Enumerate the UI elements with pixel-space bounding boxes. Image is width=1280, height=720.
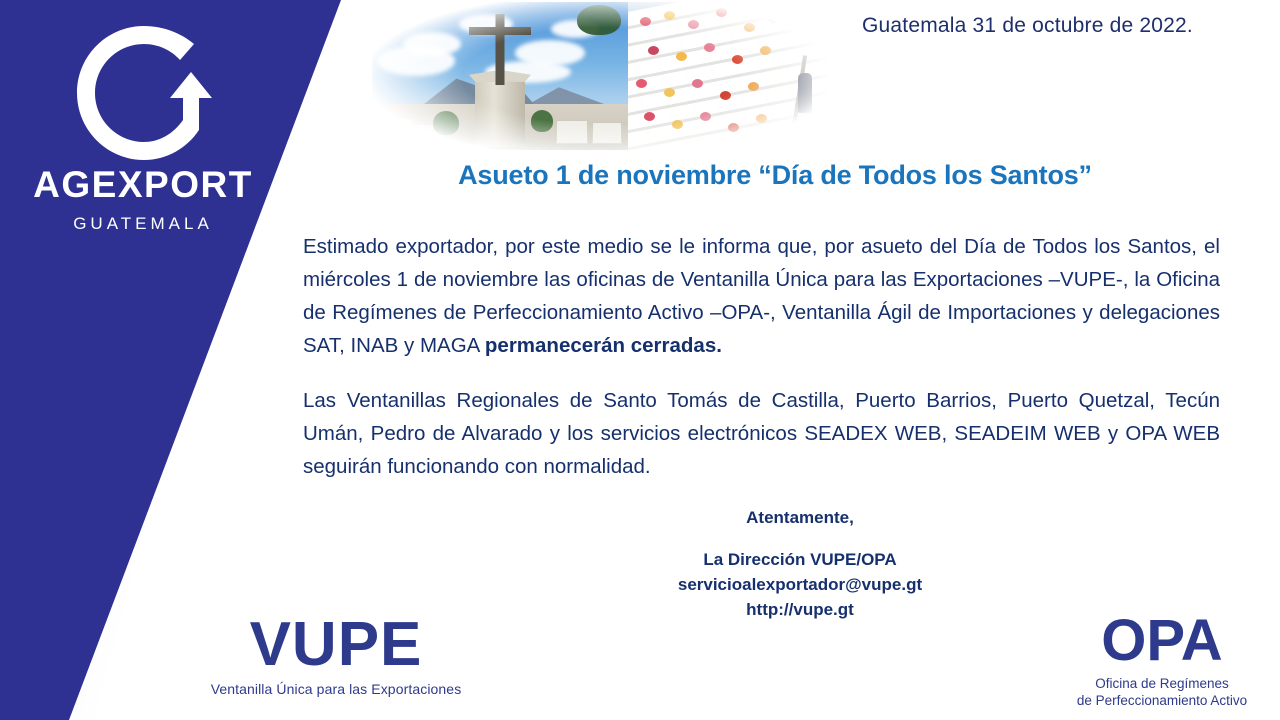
agexport-logo: AGEXPORT GUATEMALA bbox=[18, 20, 268, 232]
photo-banner bbox=[372, 2, 828, 150]
flower bbox=[692, 79, 703, 88]
signature-spacer bbox=[480, 530, 1120, 547]
tree bbox=[433, 111, 459, 135]
flower bbox=[644, 112, 655, 121]
flower bbox=[636, 79, 647, 88]
signature-email[interactable]: servicioalexportador@vupe.gt bbox=[480, 572, 1120, 597]
paragraph-1-text: Estimado exportador, por este medio se l… bbox=[303, 235, 1220, 357]
vupe-tagline: Ventanilla Única para las Exportaciones bbox=[205, 681, 467, 697]
person-silhouette bbox=[798, 73, 812, 113]
flower bbox=[688, 20, 699, 29]
flower bbox=[640, 17, 651, 26]
cemetery-niche-flowers-photo bbox=[628, 2, 828, 150]
flower bbox=[700, 112, 711, 121]
cross-pedestal bbox=[475, 75, 525, 147]
flower bbox=[716, 8, 727, 17]
cloud bbox=[403, 32, 461, 56]
paragraph-2: Las Ventanillas Regionales de Santo Tomá… bbox=[303, 384, 1220, 483]
vupe-logo: VUPE Ventanilla Única para las Exportaci… bbox=[205, 614, 467, 697]
date-line: Guatemala 31 de octubre de 2022. bbox=[862, 14, 1193, 38]
vupe-wordmark: VUPE bbox=[205, 614, 467, 676]
signature-block: Atentamente, La Dirección VUPE/OPA servi… bbox=[480, 505, 1120, 622]
page-title: Asueto 1 de noviembre “Día de Todos los … bbox=[300, 160, 1250, 191]
cemetery-cross-photo bbox=[372, 2, 628, 150]
paragraph-1: Estimado exportador, por este medio se l… bbox=[303, 230, 1220, 362]
flower bbox=[664, 88, 675, 97]
flower bbox=[664, 11, 675, 20]
opa-tagline-line-2: de Perfeccionamiento Activo bbox=[1052, 692, 1272, 709]
opa-logo: OPA Oficina de Regímenes de Perfeccionam… bbox=[1052, 612, 1272, 709]
opa-tagline: Oficina de Regímenes de Perfeccionamient… bbox=[1052, 675, 1272, 709]
opa-tagline-line-1: Oficina de Regímenes bbox=[1052, 675, 1272, 692]
cross-icon bbox=[469, 27, 531, 35]
signature-closing: Atentamente, bbox=[480, 505, 1120, 530]
flower bbox=[768, 14, 779, 23]
opa-wordmark: OPA bbox=[1052, 612, 1272, 670]
agexport-country: GUATEMALA bbox=[18, 215, 268, 232]
cross-icon bbox=[496, 14, 505, 85]
tomb bbox=[377, 118, 413, 144]
tree bbox=[531, 110, 553, 132]
flower bbox=[748, 82, 759, 91]
tree bbox=[577, 5, 621, 35]
tomb bbox=[556, 120, 588, 144]
paragraph-1-bold: permanecerán cerradas. bbox=[485, 334, 722, 357]
flower bbox=[744, 23, 755, 32]
poster-canvas: AGEXPORT GUATEMALA bbox=[0, 0, 1280, 720]
body-copy: Estimado exportador, por este medio se l… bbox=[303, 230, 1220, 505]
agexport-wordmark: AGEXPORT bbox=[18, 166, 268, 203]
signature-department: La Dirección VUPE/OPA bbox=[480, 547, 1120, 572]
agexport-g-arrow-icon bbox=[63, 20, 223, 160]
signature-website[interactable]: http://vupe.gt bbox=[480, 597, 1120, 622]
tomb bbox=[592, 122, 622, 144]
flower bbox=[720, 91, 731, 100]
